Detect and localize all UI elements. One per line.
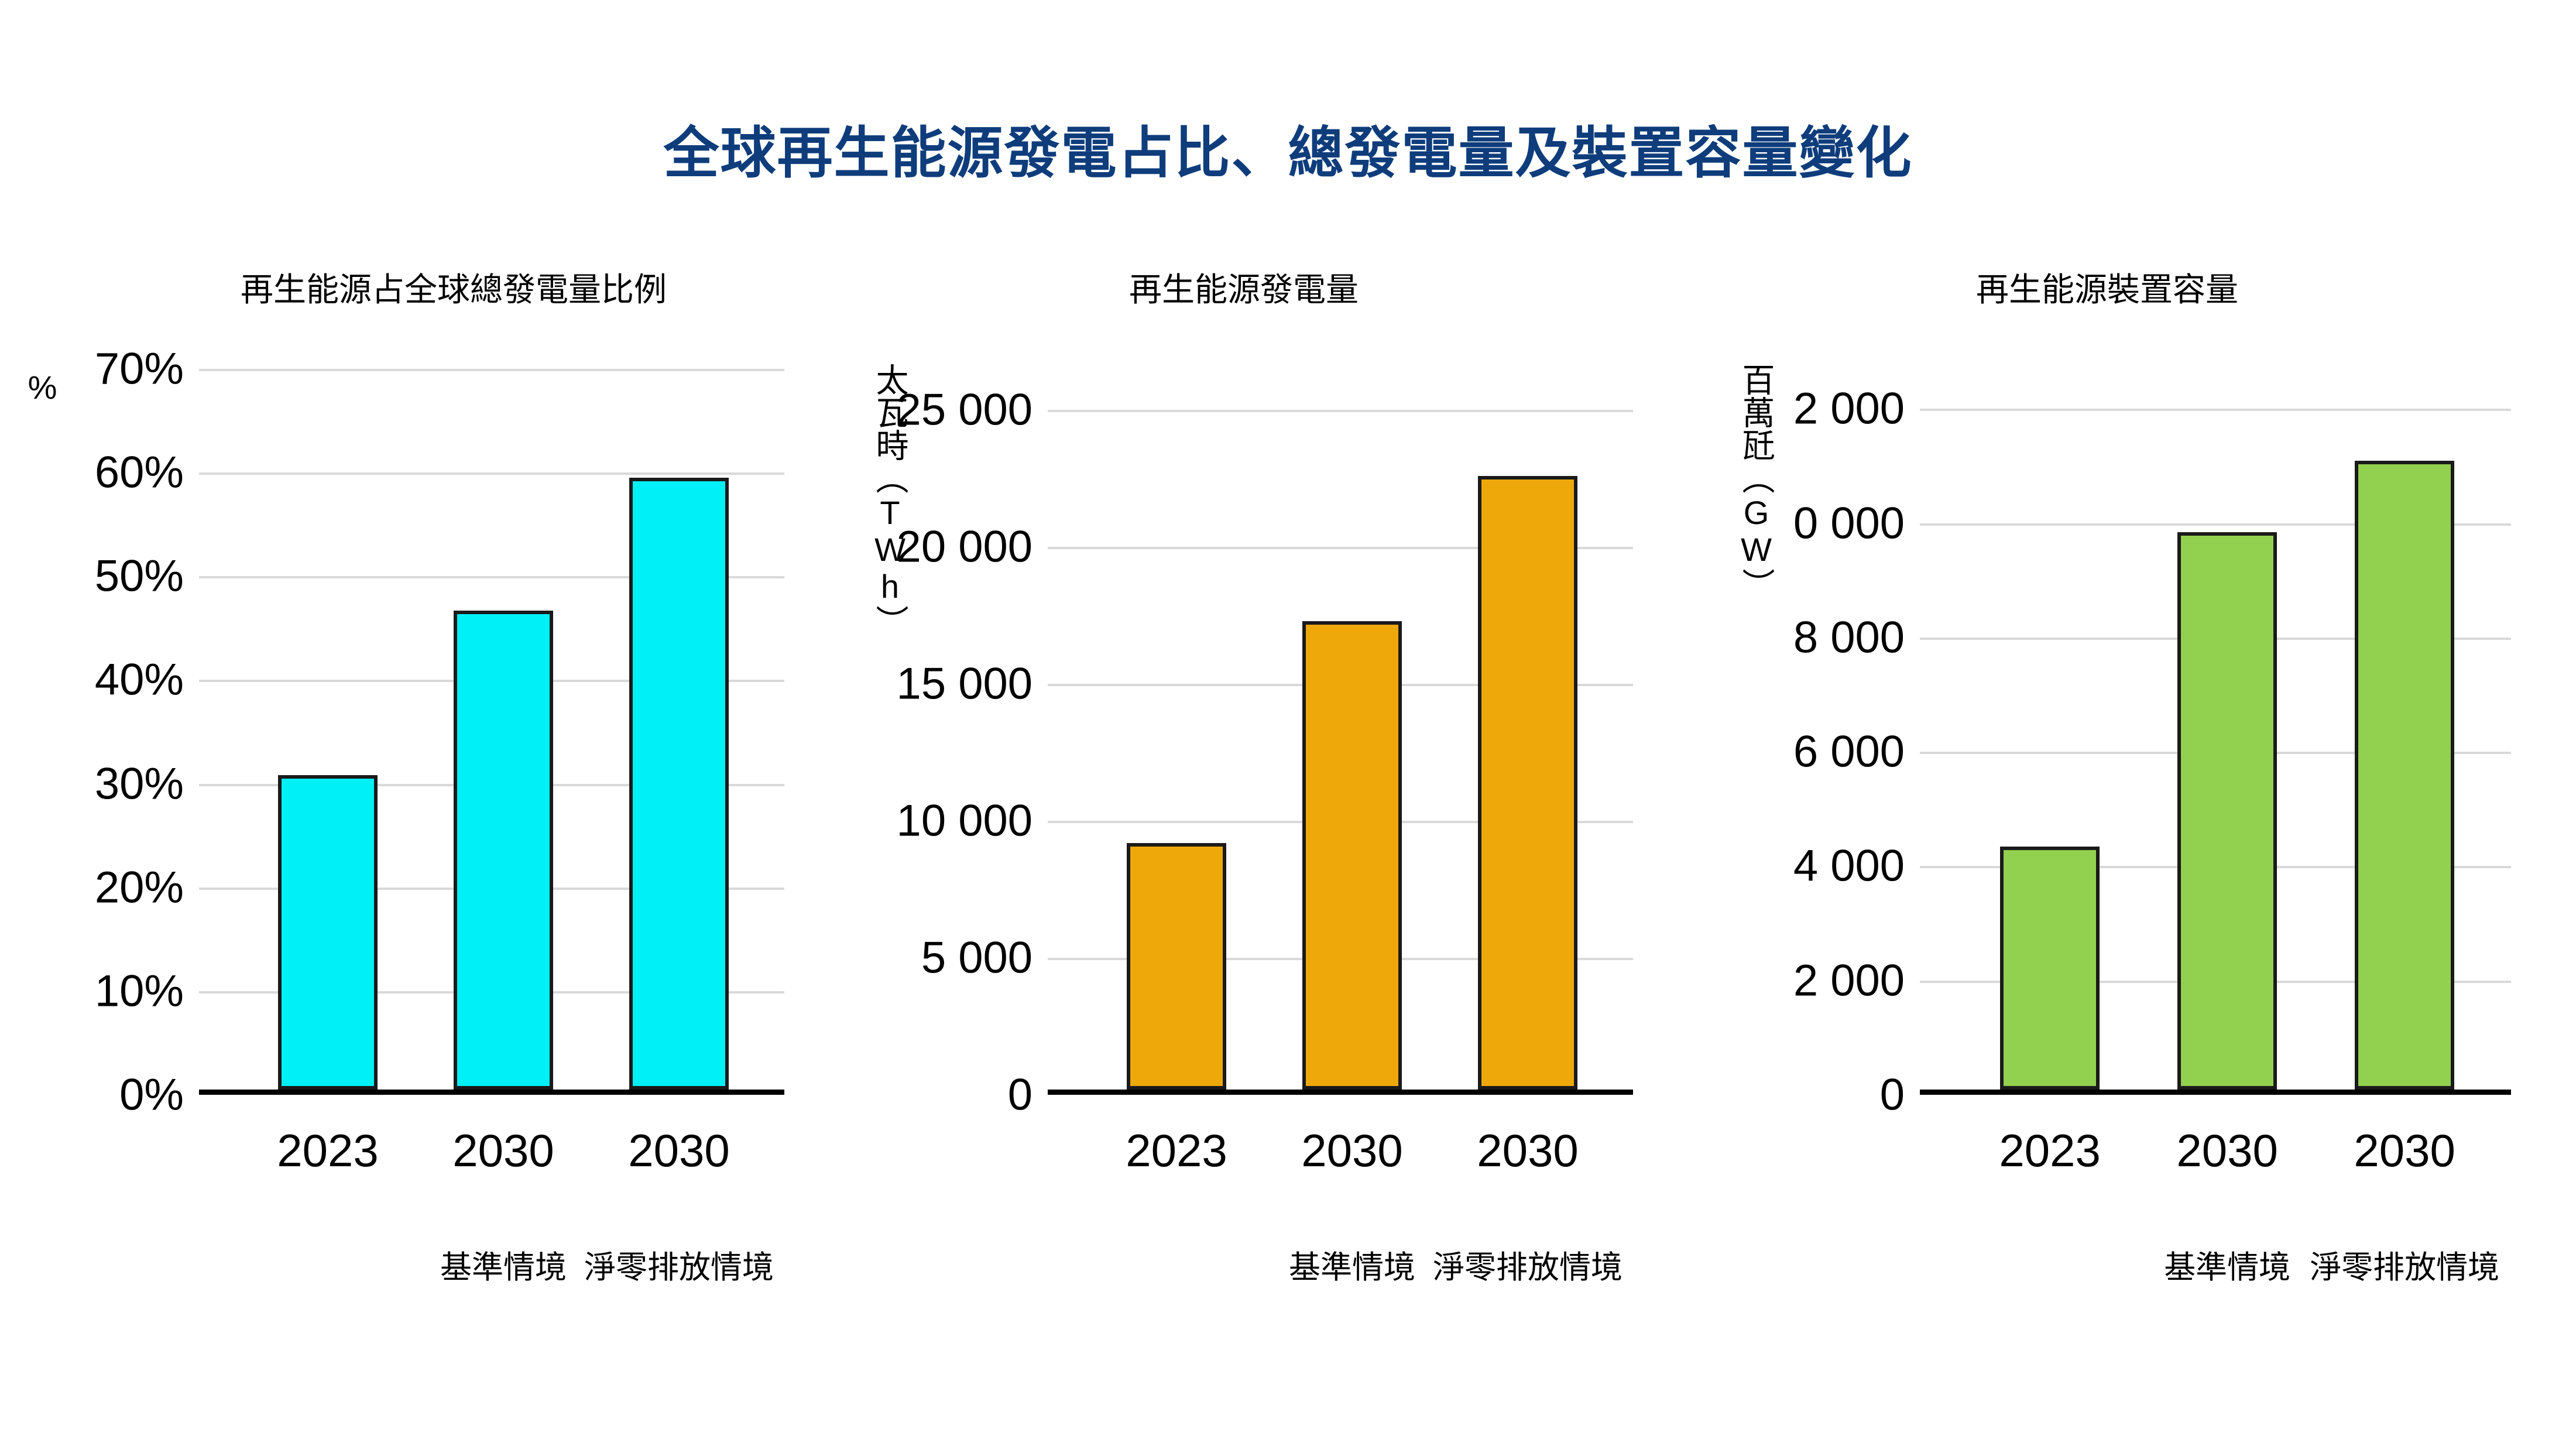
x-category-label: 2023	[277, 1124, 379, 1177]
y-tick-label: 2 000	[1793, 383, 1905, 434]
bar[interactable]	[629, 478, 729, 1090]
bar[interactable]	[2355, 461, 2454, 1090]
y-tick-label: 5 000	[921, 933, 1033, 984]
x-scenario-label: 淨零排放情境	[584, 1241, 774, 1287]
bar[interactable]	[2000, 847, 2100, 1090]
x-scenario-label: 基準情境	[440, 1241, 567, 1287]
y-tick-label: 10%	[95, 965, 184, 1016]
y-tick-label: 60%	[95, 447, 184, 498]
bar[interactable]	[2177, 532, 2277, 1090]
y-tick-label: 0	[1008, 1070, 1033, 1121]
y-tick-label: 50%	[95, 551, 184, 602]
x-category-label: 2030	[2176, 1124, 2278, 1177]
plot-area-2: 05 00010 00015 00020 00025 000	[1048, 369, 1633, 1095]
x-scenario-label: 基準情境	[1289, 1241, 1415, 1287]
bar[interactable]	[1478, 476, 1577, 1090]
y-tick-label: 40%	[95, 655, 184, 705]
plot-area-3: 02 0004 0006 0008 0000 0002 000	[1920, 369, 2511, 1095]
y-tick-label: 2 000	[1793, 955, 1905, 1006]
x-axis-line-1	[199, 1090, 784, 1095]
bar-group	[199, 364, 784, 1090]
x-category-label: 2030	[2354, 1124, 2455, 1177]
x-scenario-label: 基準情境	[2164, 1241, 2290, 1287]
y-tick-label: 20%	[95, 862, 184, 913]
y-tick-label: 70%	[95, 344, 184, 395]
bar[interactable]	[1127, 843, 1226, 1090]
chart-subtitle-1: 再生能源占全球總發電量比例	[23, 263, 855, 311]
x-category-label: 2023	[1999, 1124, 2101, 1177]
y-tick-label: 10 000	[897, 796, 1033, 847]
bar-group	[1048, 364, 1633, 1090]
x-axis-line-2	[1048, 1090, 1633, 1095]
x-category-label: 2030	[452, 1124, 554, 1177]
y-tick-label: 25 000	[897, 385, 1033, 436]
bar[interactable]	[454, 611, 553, 1090]
bar[interactable]	[1302, 621, 1402, 1090]
chart-panel-renewable-capacity: 再生能源裝置容量 百萬瓩（GW） 02 0004 0006 0008 0000 …	[1645, 252, 2552, 1364]
y-tick-label: 0%	[119, 1070, 184, 1121]
x-scenario-label: 淨零排放情境	[1433, 1241, 1623, 1287]
chart-panel-renewable-generation: 再生能源發電量 太瓦時（TWh） 05 00010 00015 00020 00…	[796, 252, 1668, 1364]
x-category-label: 2030	[1477, 1124, 1579, 1177]
y-tick-label: 0 000	[1793, 498, 1905, 549]
chart-panel-renewable-share: 再生能源占全球總發電量比例 % 0%10%20%30%40%50%60%70% …	[23, 252, 855, 1364]
chart-subtitle-2: 再生能源發電量	[796, 263, 1668, 311]
bar-group	[1920, 364, 2511, 1090]
y-tick-label: 30%	[95, 758, 184, 809]
page-title: 全球再生能源發電占比、總發電量及裝置容量變化	[0, 108, 2576, 189]
x-category-label: 2023	[1126, 1124, 1227, 1177]
x-category-label: 2030	[1301, 1124, 1403, 1177]
plot-area-1: 0%10%20%30%40%50%60%70%	[199, 369, 784, 1095]
x-scenario-label: 淨零排放情境	[2310, 1241, 2499, 1287]
y-tick-label: 15 000	[897, 659, 1033, 710]
chart-subtitle-3: 再生能源裝置容量	[1645, 263, 2552, 311]
y-tick-label: 0	[1880, 1070, 1905, 1121]
y-axis-unit-1: %	[23, 369, 61, 406]
y-tick-label: 6 000	[1793, 727, 1905, 777]
y-tick-label: 20 000	[897, 522, 1033, 573]
y-tick-label: 8 000	[1793, 612, 1905, 663]
x-category-label: 2030	[628, 1124, 730, 1177]
bar[interactable]	[278, 775, 378, 1090]
y-tick-label: 4 000	[1793, 841, 1905, 892]
y-axis-unit-3: 百萬瓩（GW）	[1733, 363, 1780, 601]
x-axis-line-3	[1920, 1090, 2511, 1095]
